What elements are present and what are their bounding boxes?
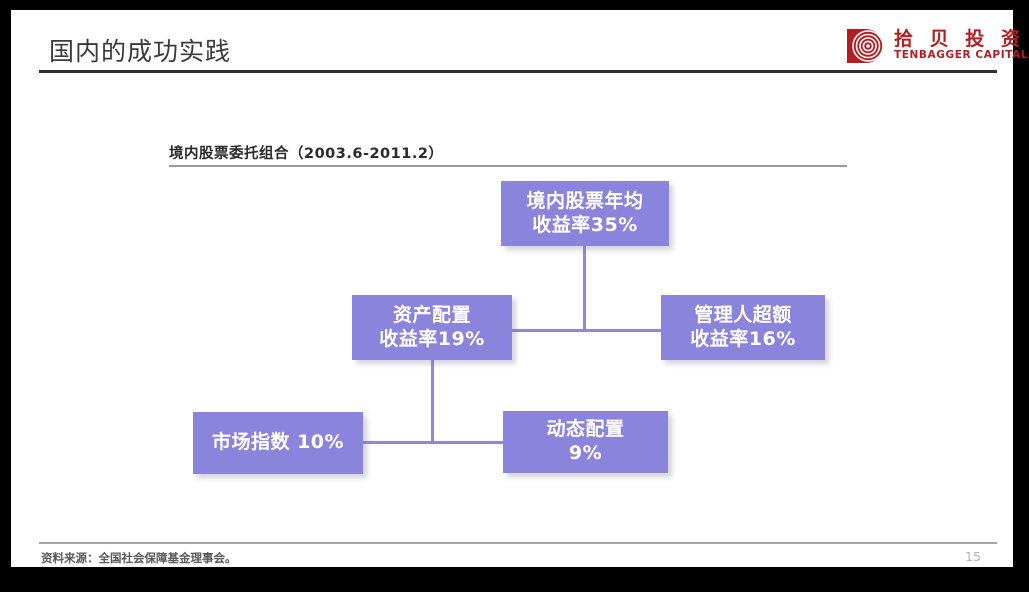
node-dynamic-allocation[interactable]: 动态配置 9%: [503, 411, 668, 473]
node-manager-alpha[interactable]: 管理人超额 收益率16%: [661, 295, 825, 360]
node-market-index[interactable]: 市场指数 10%: [193, 412, 363, 474]
footer-divider: [39, 542, 997, 544]
node-manager-alpha-line1: 管理人超额: [694, 304, 792, 328]
page-number: 15: [965, 549, 981, 564]
connector-tier1-horizontal: [512, 329, 662, 332]
node-market-index-line1: 市场指数 10%: [212, 431, 344, 455]
node-asset-allocation-line1: 资产配置: [393, 304, 471, 328]
slide-frame: 国内的成功实践 拾 贝 投 资 TENBAGGER CAPITAL 境内股: [0, 0, 1029, 592]
node-total-return[interactable]: 境内股票年均 收益率35%: [501, 181, 669, 246]
node-total-return-line1: 境内股票年均: [526, 190, 643, 214]
node-asset-allocation[interactable]: 资产配置 收益率19%: [352, 295, 512, 360]
connector-tier2-horizontal: [363, 441, 504, 444]
slide-surface: 国内的成功实践 拾 贝 投 资 TENBAGGER CAPITAL 境内股: [11, 10, 1013, 567]
node-dynamic-allocation-line2: 9%: [569, 442, 602, 466]
connector-asset-vertical: [431, 360, 434, 443]
source-note: 资料来源：全国社会保障基金理事会。: [41, 550, 237, 566]
connector-total-vertical: [583, 246, 586, 331]
node-asset-allocation-line2: 收益率19%: [379, 328, 484, 352]
node-manager-alpha-line2: 收益率16%: [690, 328, 795, 352]
node-total-return-line2: 收益率35%: [532, 214, 637, 238]
attribution-diagram: 境内股票年均 收益率35% 资产配置 收益率19% 管理人超额 收益率16% 市…: [11, 10, 1013, 567]
node-dynamic-allocation-line1: 动态配置: [546, 418, 624, 442]
